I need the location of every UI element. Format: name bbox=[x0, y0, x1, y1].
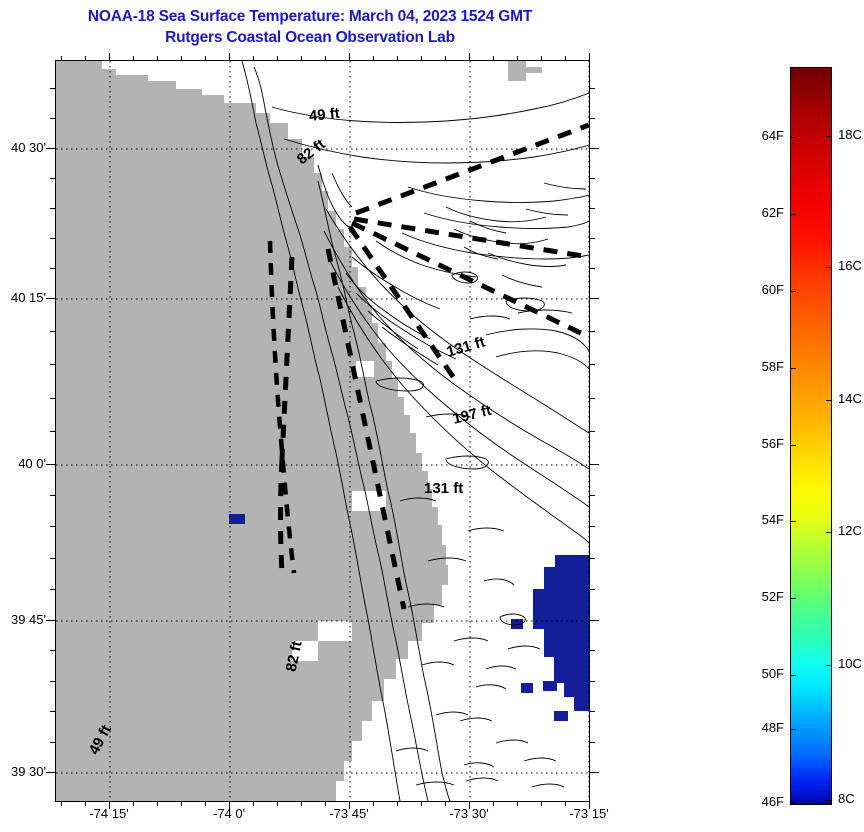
sea-surface-temperature-map[interactable]: 49 ft 82 ft 131 ft 197 ft 131 ft 82 ft 4… bbox=[55, 60, 590, 802]
y-axis-minor-tick bbox=[50, 268, 55, 269]
colorbar-label-fahrenheit: 64F bbox=[736, 128, 784, 143]
x-axis-minor-tick bbox=[373, 56, 374, 60]
x-axis-minor-tick bbox=[445, 802, 446, 806]
colorbar-label-celsius: 10C bbox=[838, 656, 862, 671]
colorbar-tick-fahrenheit bbox=[790, 368, 796, 369]
x-axis-minor-tick bbox=[61, 56, 62, 60]
colorbar-label-fahrenheit: 50F bbox=[736, 666, 784, 681]
y-axis-minor-tick bbox=[590, 178, 595, 179]
y-axis-minor-tick bbox=[50, 589, 55, 590]
x-axis-minor-tick bbox=[421, 802, 422, 806]
y-axis-minor-tick bbox=[50, 495, 55, 496]
y-axis-label: 40 15' bbox=[0, 290, 46, 305]
title-line-secondary: Rutgers Coastal Ocean Observation Lab bbox=[0, 27, 620, 48]
colorbar-tick-fahrenheit bbox=[790, 137, 796, 138]
depth-label-49ft-north: 49 ft bbox=[308, 105, 340, 125]
colorbar-label-celsius: 14C bbox=[838, 391, 862, 406]
colorbar-tick-fahrenheit bbox=[790, 729, 796, 730]
y-axis-label: 40 0' bbox=[0, 456, 46, 471]
y-axis-minor-tick bbox=[590, 526, 595, 527]
x-axis-minor-tick bbox=[565, 56, 566, 60]
x-axis-minor-tick bbox=[157, 56, 158, 60]
x-axis-minor-tick bbox=[397, 802, 398, 806]
y-axis-minor-tick bbox=[590, 331, 595, 332]
map-canvas bbox=[56, 61, 589, 801]
y-axis-minor-tick bbox=[50, 398, 55, 399]
colorbar-tick-fahrenheit bbox=[790, 291, 796, 292]
y-axis-major-tick bbox=[590, 772, 599, 773]
y-axis-minor-tick bbox=[590, 711, 595, 712]
y-axis-minor-tick bbox=[50, 431, 55, 432]
colorbar-tick-celsius bbox=[826, 532, 832, 533]
colorbar-tick-celsius bbox=[826, 136, 832, 137]
y-axis-minor-tick bbox=[590, 742, 595, 743]
colorbar-tick-fahrenheit bbox=[790, 445, 796, 446]
x-axis-minor-tick bbox=[325, 56, 326, 60]
colorbar-label-fahrenheit: 60F bbox=[736, 282, 784, 297]
x-axis-minor-tick bbox=[205, 802, 206, 806]
y-axis-minor-tick bbox=[50, 331, 55, 332]
y-axis-minor-tick bbox=[50, 208, 55, 209]
x-axis-minor-tick bbox=[157, 802, 158, 806]
x-axis-minor-tick bbox=[61, 802, 62, 806]
colorbar-tick-fahrenheit bbox=[790, 521, 796, 522]
y-axis-label: 40 30' bbox=[0, 140, 46, 155]
colorbar-label-celsius: 18C bbox=[838, 127, 862, 142]
y-axis-major-tick bbox=[590, 148, 599, 149]
x-axis-label: -73 45' bbox=[304, 806, 394, 821]
x-axis-minor-tick bbox=[541, 802, 542, 806]
x-axis-minor-tick bbox=[277, 56, 278, 60]
x-axis-minor-tick bbox=[133, 802, 134, 806]
x-axis-minor-tick bbox=[493, 56, 494, 60]
x-axis-major-tick bbox=[589, 53, 590, 60]
colorbar-tick-fahrenheit bbox=[790, 803, 796, 804]
y-axis-minor-tick bbox=[50, 118, 55, 119]
x-axis-minor-tick bbox=[253, 56, 254, 60]
colorbar-tick-fahrenheit bbox=[790, 675, 796, 676]
x-axis-major-tick bbox=[229, 53, 230, 60]
y-axis-minor-tick bbox=[590, 589, 595, 590]
colorbar-label-celsius: 12C bbox=[838, 523, 862, 538]
x-axis-label: -74 15' bbox=[64, 806, 154, 821]
x-axis-minor-tick bbox=[205, 56, 206, 60]
y-axis-minor-tick bbox=[590, 431, 595, 432]
colorbar-label-fahrenheit: 48F bbox=[736, 720, 784, 735]
colorbar-label-celsius: 16C bbox=[838, 258, 862, 273]
x-axis-minor-tick bbox=[565, 802, 566, 806]
y-axis-minor-tick bbox=[590, 208, 595, 209]
page-title: NOAA-18 Sea Surface Temperature: March 0… bbox=[0, 6, 620, 48]
y-axis-minor-tick bbox=[50, 558, 55, 559]
x-axis-major-tick bbox=[469, 53, 470, 60]
y-axis-minor-tick bbox=[50, 364, 55, 365]
y-axis-major-tick bbox=[590, 464, 599, 465]
x-axis-minor-tick bbox=[517, 802, 518, 806]
x-axis-minor-tick bbox=[541, 56, 542, 60]
y-axis-minor-tick bbox=[50, 178, 55, 179]
x-axis-minor-tick bbox=[493, 802, 494, 806]
x-axis-minor-tick bbox=[373, 802, 374, 806]
y-axis-label: 39 30' bbox=[0, 764, 46, 779]
x-axis-minor-tick bbox=[325, 802, 326, 806]
colorbar-label-fahrenheit: 62F bbox=[736, 205, 784, 220]
y-axis-major-tick bbox=[46, 464, 55, 465]
x-axis-minor-tick bbox=[301, 56, 302, 60]
y-axis-major-tick bbox=[590, 620, 599, 621]
y-axis-minor-tick bbox=[50, 88, 55, 89]
y-axis-minor-tick bbox=[590, 558, 595, 559]
y-axis-minor-tick bbox=[590, 650, 595, 651]
x-axis-minor-tick bbox=[397, 56, 398, 60]
y-axis-minor-tick bbox=[590, 364, 595, 365]
y-axis-major-tick bbox=[46, 148, 55, 149]
colorbar-tick-fahrenheit bbox=[790, 598, 796, 599]
x-axis-minor-tick bbox=[85, 802, 86, 806]
x-axis-minor-tick bbox=[517, 56, 518, 60]
title-line-primary: NOAA-18 Sea Surface Temperature: March 0… bbox=[0, 6, 620, 27]
y-axis-minor-tick bbox=[590, 495, 595, 496]
colorbar-label-fahrenheit: 52F bbox=[736, 589, 784, 604]
x-axis-minor-tick bbox=[133, 56, 134, 60]
x-axis-minor-tick bbox=[181, 802, 182, 806]
x-axis-minor-tick bbox=[253, 802, 254, 806]
y-axis-minor-tick bbox=[590, 681, 595, 682]
colorbar-gradient bbox=[791, 68, 831, 804]
x-axis-minor-tick bbox=[277, 802, 278, 806]
colorbar-tick-celsius bbox=[826, 400, 832, 401]
x-axis-minor-tick bbox=[181, 56, 182, 60]
y-axis-minor-tick bbox=[590, 398, 595, 399]
y-axis-minor-tick bbox=[50, 742, 55, 743]
x-axis-minor-tick bbox=[301, 802, 302, 806]
x-axis-minor-tick bbox=[445, 56, 446, 60]
colorbar-label-celsius: 8C bbox=[838, 791, 855, 806]
y-axis-minor-tick bbox=[590, 268, 595, 269]
colorbar-tick-celsius bbox=[826, 665, 832, 666]
x-axis-minor-tick bbox=[85, 56, 86, 60]
colorbar-label-fahrenheit: 58F bbox=[736, 359, 784, 374]
y-axis-major-tick bbox=[590, 298, 599, 299]
x-axis-label: -74 0' bbox=[184, 806, 274, 821]
colorbar-label-fahrenheit: 56F bbox=[736, 436, 784, 451]
y-axis-minor-tick bbox=[590, 88, 595, 89]
y-axis-major-tick bbox=[46, 298, 55, 299]
colorbar-label-fahrenheit: 54F bbox=[736, 512, 784, 527]
x-axis-label: -73 30' bbox=[424, 806, 514, 821]
colorbar-tick-fahrenheit bbox=[790, 214, 796, 215]
y-axis-minor-tick bbox=[50, 526, 55, 527]
x-axis-major-tick bbox=[109, 53, 110, 60]
colorbar-label-fahrenheit: 46F bbox=[736, 794, 784, 809]
x-axis-major-tick bbox=[349, 53, 350, 60]
y-axis-major-tick bbox=[46, 772, 55, 773]
y-axis-minor-tick bbox=[50, 238, 55, 239]
temperature-colorbar[interactable] bbox=[790, 67, 832, 805]
y-axis-minor-tick bbox=[50, 711, 55, 712]
colorbar-tick-celsius bbox=[826, 800, 832, 801]
y-axis-major-tick bbox=[46, 620, 55, 621]
y-axis-label: 39 45' bbox=[0, 612, 46, 627]
y-axis-minor-tick bbox=[50, 650, 55, 651]
x-axis-label: -73 15' bbox=[544, 806, 634, 821]
y-axis-minor-tick bbox=[590, 118, 595, 119]
y-axis-minor-tick bbox=[50, 681, 55, 682]
depth-label-131ft-lower: 131 ft bbox=[424, 480, 463, 497]
x-axis-minor-tick bbox=[421, 56, 422, 60]
y-axis-minor-tick bbox=[590, 238, 595, 239]
colorbar-tick-celsius bbox=[826, 267, 832, 268]
